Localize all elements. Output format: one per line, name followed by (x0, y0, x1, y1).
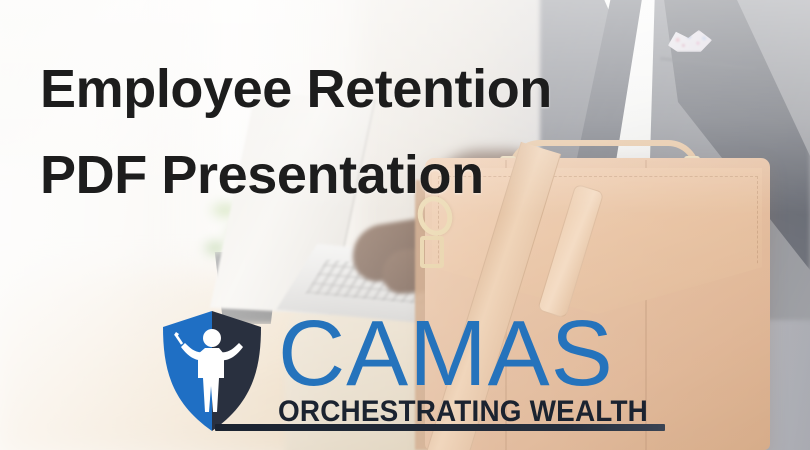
presentation-cover-banner: Employee Retention PDF Presentation (0, 0, 810, 450)
camas-logo: CAMAS ORCHESTRATING WEALTH (160, 306, 670, 436)
headline-block: Employee Retention PDF Presentation (40, 46, 680, 218)
logo-wordmark: CAMAS ORCHESTRATING WEALTH (278, 306, 670, 428)
headline-line-1: Employee Retention (40, 46, 680, 132)
headline-line-2: PDF Presentation (40, 132, 680, 218)
logo-underline-rule (215, 424, 665, 431)
shield-conductor-icon (160, 310, 264, 432)
logo-brand-text: CAMAS (278, 306, 670, 400)
